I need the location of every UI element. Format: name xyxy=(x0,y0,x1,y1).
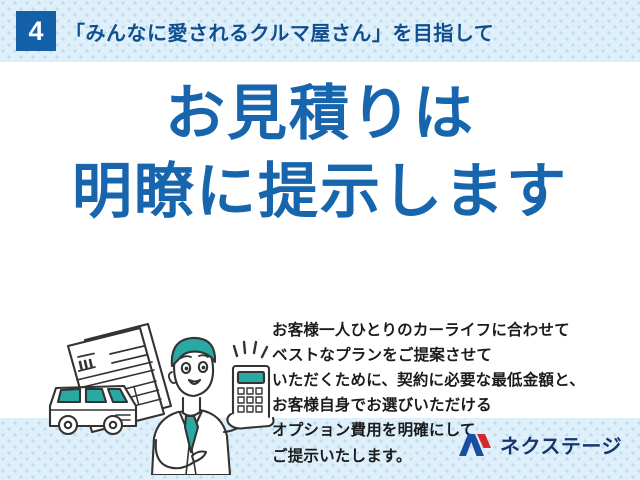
nexstage-mark-icon xyxy=(458,432,492,458)
brand-logo: ネクステージ xyxy=(458,430,622,459)
headline-line-1: お見積りは xyxy=(0,84,640,144)
content-card: お見積りは 明瞭に提示します xyxy=(0,62,640,418)
footer-band: ネクステージ xyxy=(0,418,640,480)
section-number-badge: 4 xyxy=(16,11,56,51)
header-title: 「みんなに愛されるクルマ屋さん」を目指して xyxy=(65,17,494,46)
sparkle-icon xyxy=(234,342,267,357)
headline-line-2: 明瞭に提示します xyxy=(0,162,640,222)
brand-logo-text: ネクステージ xyxy=(500,430,622,459)
calculator-illustration xyxy=(227,342,273,429)
header-band: 4 「みんなに愛されるクルマ屋さん」を目指して xyxy=(0,0,640,62)
slide-root: 4 「みんなに愛されるクルマ屋さん」を目指して お見積りは 明瞭に提示します xyxy=(0,0,640,480)
